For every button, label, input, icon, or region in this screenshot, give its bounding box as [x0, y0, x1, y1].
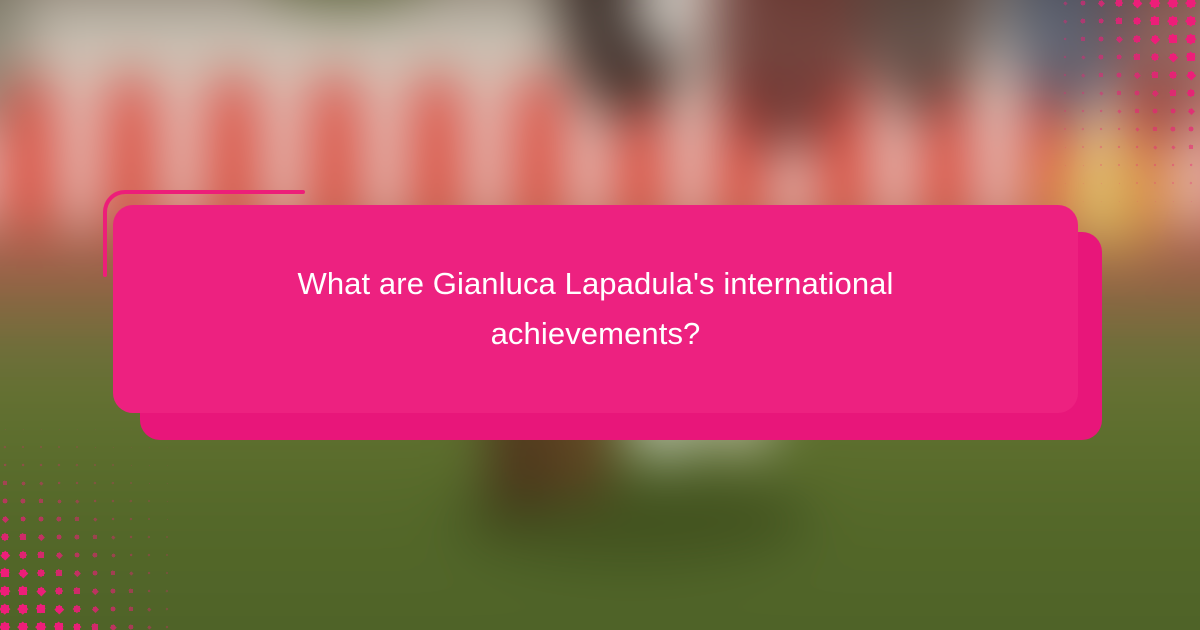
question-card: What are Gianluca Lapadula's internation…	[113, 205, 1078, 413]
card-stack: What are Gianluca Lapadula's internation…	[0, 0, 1200, 630]
question-text: What are Gianluca Lapadula's internation…	[202, 259, 990, 359]
question-card-graphic: What are Gianluca Lapadula's internation…	[0, 0, 1200, 630]
